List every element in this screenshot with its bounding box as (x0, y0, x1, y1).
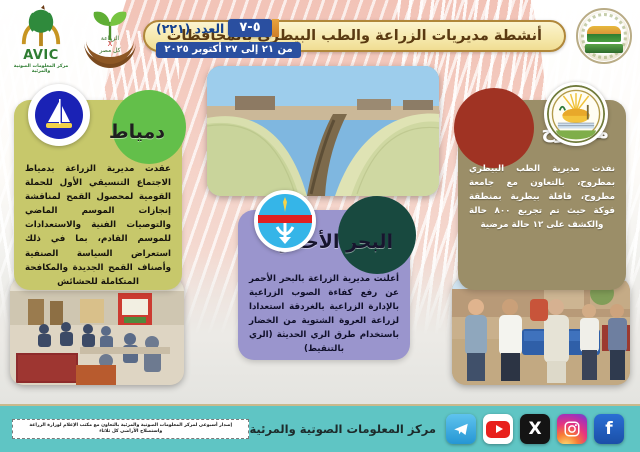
footer: f X مركز المعلومات الصوتية والمرئية إصدا… (0, 404, 640, 452)
avic-subtitle: مركز المعلومات الصوتية والمرئية (8, 64, 74, 74)
issue-date: من ٢١ إلى ٢٧ أكتوبر ٢٠٢٥ (156, 42, 301, 58)
photo-vet (452, 277, 630, 385)
issue-label: العدد (٢٢١) (156, 21, 224, 36)
instagram-icon[interactable] (557, 414, 587, 444)
footer-note: إصدار أسبوعي لمركز المعلومات الصوتية وال… (12, 419, 249, 439)
redsea-crest-icon (254, 190, 316, 252)
facebook-icon[interactable]: f (594, 414, 624, 444)
x-twitter-icon[interactable]: X (520, 414, 550, 444)
header: أنشطة مديريات الزراعة والطب البيطري بالم… (0, 0, 640, 76)
social-links: f X (446, 414, 624, 444)
youtube-icon[interactable] (483, 414, 513, 444)
infographic-page: أنشطة مديريات الزراعة والطب البيطري بالم… (0, 0, 640, 452)
card-damietta[interactable]: دمياط عقدت مديرية الزراعة بدمياط الاجتما… (14, 100, 182, 290)
photo-greenhouse (207, 66, 439, 196)
plant-logo-icon: الزراعة X كل مصر (78, 6, 142, 70)
avic-wordmark: AVIC (8, 48, 74, 63)
card-matrouh[interactable]: مطروح نفذت مديرية الطب البيطري بمطروح، ب… (458, 100, 626, 290)
avic-logo-icon: AVIC مركز المعلومات الصوتية والمرئية (8, 4, 74, 74)
footer-center-text: مركز المعلومات الصوتية والمرئية (249, 422, 436, 436)
matrouh-crest-icon (544, 82, 608, 146)
svg-text:كل مصر: كل مصر (98, 47, 120, 54)
issue-block: ٥-٧ العدد (٢٢١) من ٢١ إلى ٢٧ أكتوبر ٢٠٢٥ (156, 17, 301, 58)
telegram-icon[interactable] (446, 414, 476, 444)
photo-meeting (10, 277, 184, 385)
ministry-emblem-icon (570, 8, 632, 66)
card-redsea[interactable]: البحر الأحمر أعلنت مديرية الزراعة بالبحر… (238, 210, 410, 360)
card-damietta-body: عقدت مديرية الزراعة بدمياط الاجتماع التن… (25, 162, 171, 289)
damietta-crest-icon (28, 84, 90, 146)
card-matrouh-body: نفذت مديرية الطب البيطري بمطروح، بالتعاو… (469, 162, 615, 232)
issue-number-badge: ٥-٧ (228, 19, 271, 37)
card-redsea-body: أعلنت مديرية الزراعة بالبحر الأحمر عن رف… (249, 272, 399, 357)
